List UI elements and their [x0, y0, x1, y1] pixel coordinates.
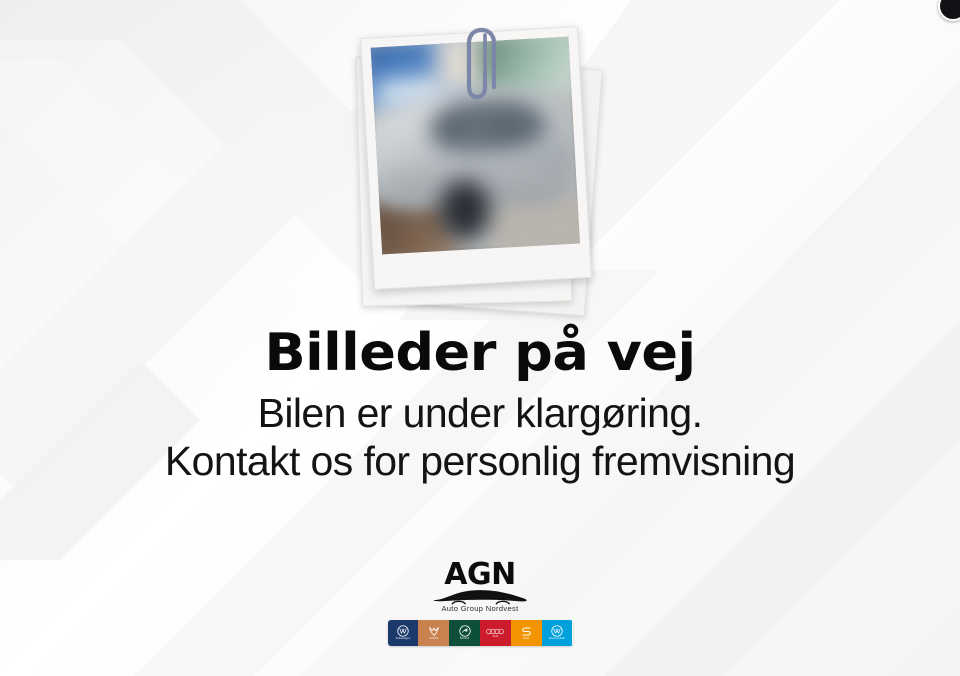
paperclip-icon [466, 27, 500, 105]
subtitle-line-1: Bilen er under klargøring. [0, 389, 960, 437]
brand-bar: Volkswagen CUPRA ŠKODA [388, 620, 573, 646]
brand-label: Audi [493, 636, 499, 639]
page-title: Billeder på vej [0, 326, 960, 381]
brand-tile-seat[interactable]: SEAT [511, 620, 542, 646]
skoda-winged-arrow-icon [459, 625, 471, 637]
vw-roundel-icon [397, 625, 409, 637]
close-button[interactable] [938, 0, 960, 21]
brand-tile-audi[interactable]: Audi [480, 620, 511, 646]
brand-label: ŠKODA [460, 638, 470, 641]
logo-wordmark: AGN [385, 560, 575, 590]
vw-roundel-icon [551, 625, 563, 637]
seat-s-icon [521, 626, 532, 637]
brand-label: Erhvervsbiler [549, 638, 565, 641]
cupra-tribal-icon [428, 626, 440, 637]
brand-label: CUPRA [429, 638, 439, 641]
brand-tile-cupra[interactable]: CUPRA [418, 620, 449, 646]
brand-tile-skoda[interactable]: ŠKODA [449, 620, 480, 646]
subtitle-line-2: Kontakt os for personlig fremvisning [0, 437, 960, 485]
page-subtitle: Bilen er under klargøring. Kontakt os fo… [0, 389, 960, 486]
placeholder-card: Billeder på vej Bilen er under klargørin… [0, 0, 960, 676]
brand-tile-volkswagen-erhverv[interactable]: Erhvervsbiler [542, 620, 573, 646]
message-block: Billeder på vej Bilen er under klargørin… [0, 326, 960, 486]
brand-tile-volkswagen[interactable]: Volkswagen [388, 620, 419, 646]
brand-label: SEAT [523, 638, 530, 641]
brand-label: Volkswagen [395, 638, 410, 641]
audi-rings-icon [486, 628, 504, 635]
logo-tagline: Auto Group Nordvest [385, 604, 575, 613]
dealer-logo: AGN Auto Group Nordvest Volkswagen CUPRA [385, 560, 575, 646]
photo-floor-right [490, 193, 580, 255]
